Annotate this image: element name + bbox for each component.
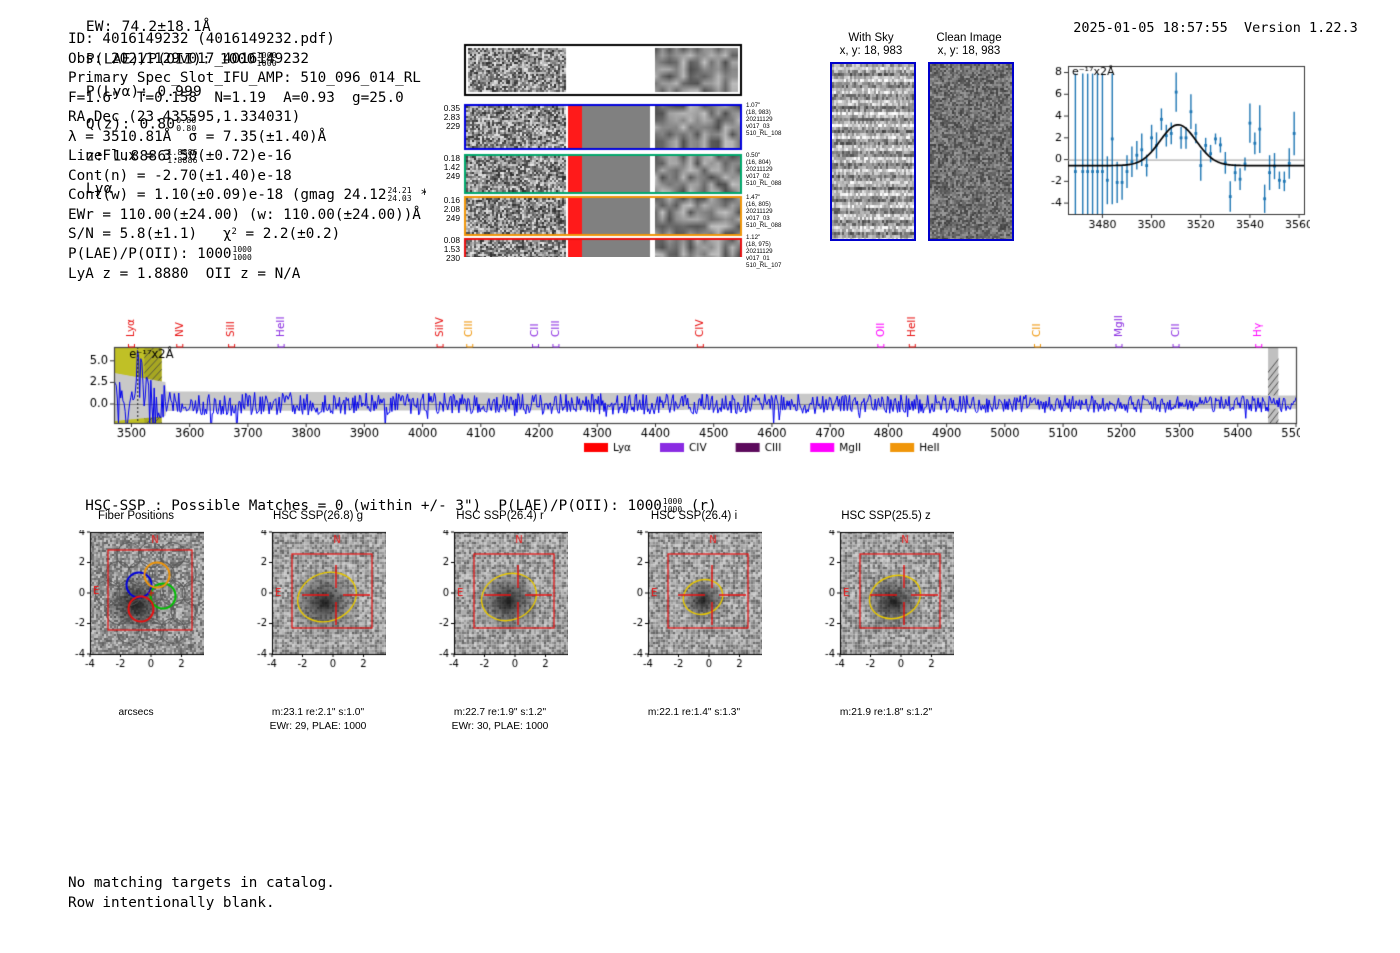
spec2d-row2-leftlabel-2: 249	[426, 214, 460, 223]
cutout-panel-fiber-positions: Fiber Positions arcsecs	[68, 530, 204, 690]
cutout-canvas-3	[626, 530, 762, 690]
cutout-title-0: Fiber Positions	[68, 510, 204, 523]
header-timestamp-version: 2025-01-05 18:57:55 Version 1.22.3	[1057, 4, 1358, 36]
info-wavelength-sigma: λ = 3510.81Å σ = 7.35(±1.40)Å	[68, 128, 437, 148]
version-label: Version 1.22.3	[1244, 20, 1358, 36]
footer-line-2: Row intentionally blank.	[68, 894, 335, 914]
info-obs: Obs: 20211129v017_4016149232	[68, 50, 437, 70]
cutout-panel-hsc-r: HSC SSP(26.4) r m:22.7 re:1.9" s:1.2" EW…	[432, 530, 568, 690]
cutout-canvas-1	[250, 530, 386, 690]
2d-spectrum-panel: 2D Spec Pixel Flat Smoothed Weighted Sum…	[426, 32, 816, 257]
cutout-title-3: HSC SSP(26.4) i	[626, 510, 762, 523]
cutout-panel-hsc-i: HSC SSP(26.4) i m:22.1 re:1.4" s:1.3"	[626, 530, 762, 690]
footer-line-1: No matching targets in catalog.	[68, 874, 335, 894]
spec2d-row0-rightlabel-4: 510_RL_108	[746, 130, 812, 137]
info-redshifts: LyA z = 1.8880 OII z = N/A	[68, 265, 437, 285]
clean-image-canvas	[928, 62, 1014, 241]
spec2d-row2-rightlabel-4: 510_RL_088	[746, 222, 812, 229]
spec2d-row3-rightlabel-4: 510_RL_107	[746, 262, 812, 269]
line-fit-canvas	[1034, 58, 1310, 240]
info-lineflux: LineFlux = 3.50(±0.72)e-16	[68, 147, 437, 167]
timestamp: 2025-01-05 18:57:55	[1073, 20, 1227, 36]
info-cont-n: Cont(n) = -2.70(±1.40)e-18	[68, 167, 437, 187]
info-plae: P(LAE)/P(OII): 100010001000	[68, 245, 437, 265]
info-ewr: EWr = 110.00(±24.00) (w: 110.00(±24.00))…	[68, 206, 437, 226]
info-radec: RA,Dec (23.435595,1.334031)	[68, 108, 437, 128]
cutout-panel-hsc-g: HSC SSP(26.8) g m:23.1 re:2.1" s:1.0" EW…	[250, 530, 386, 690]
with-sky-image	[830, 62, 916, 241]
cutout-canvas-2	[432, 530, 568, 690]
info-sn-chi2: S/N = 5.8(±1.1) χ2 = 2.2(±0.2)	[68, 225, 437, 245]
detection-info-block: ID: 4016149232 (4016149232.pdf) Obs: 202…	[68, 30, 437, 284]
spec2d-row1-rightlabel-4: 510_RL_088	[746, 180, 812, 187]
with-sky-xy: x, y: 18, 983	[830, 45, 912, 58]
clean-image-xy: x, y: 18, 983	[928, 45, 1010, 58]
clean-image-title: Clean Image	[928, 32, 1010, 45]
full-spectrum-plot	[68, 295, 1300, 455]
spec2d-row0-leftlabel-2: 229	[426, 122, 460, 131]
spec2d-row3-leftlabel-2: 230	[426, 254, 460, 263]
line-fit-plot	[1034, 58, 1310, 240]
info-id: ID: 4016149232 (4016149232.pdf)	[68, 30, 437, 50]
info-seeing-params: F=1.6" T=0.158 N=1.19 A=0.93 g=25.0	[68, 89, 437, 109]
cutout-title-4: HSC SSP(25.5) z	[818, 510, 954, 523]
info-cont-w: Cont(w) = 1.10(±0.09)e-18 (gmag 24.1224.…	[68, 186, 437, 206]
spec2d-row1-leftlabel-2: 249	[426, 172, 460, 181]
info-primary-spec-slot: Primary Spec_Slot_IFU_AMP: 510_096_014_R…	[68, 69, 437, 89]
cutout-caption1-4: m:21.9 re:1.8" s:1.2"	[771, 706, 1001, 719]
full-spectrum-canvas	[68, 295, 1300, 455]
with-sky-title: With Sky	[830, 32, 912, 45]
cutout-caption2-2: EWr: 30, PLAE: 1000	[385, 720, 615, 733]
cutout-title-2: HSC SSP(26.4) r	[432, 510, 568, 523]
cutout-canvas-0	[68, 530, 204, 690]
cutout-title-1: HSC SSP(26.8) g	[250, 510, 386, 523]
cutout-canvas-4	[818, 530, 954, 690]
cutout-panel-hsc-z: HSC SSP(25.5) z m:21.9 re:1.8" s:1.2"	[818, 530, 954, 690]
footer-message: No matching targets in catalog. Row inte…	[68, 874, 335, 913]
